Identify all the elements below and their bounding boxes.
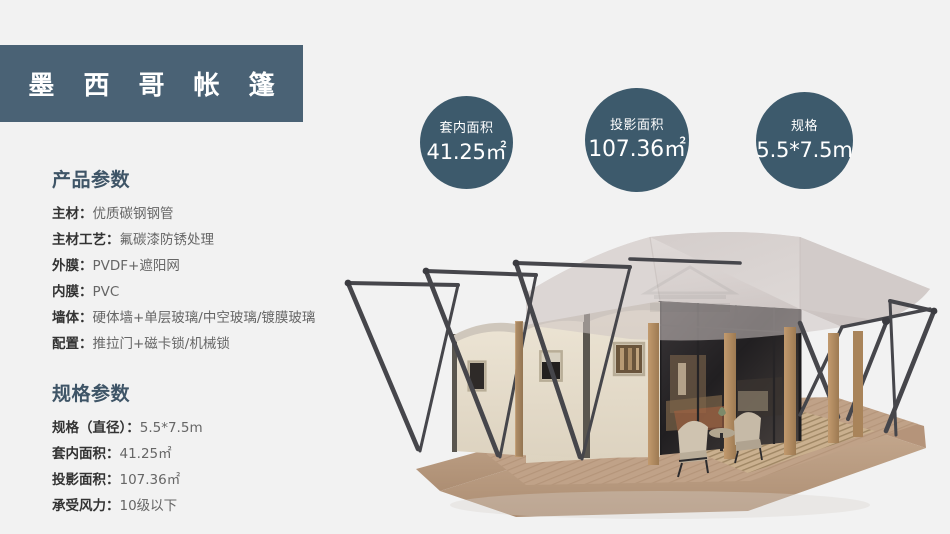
spec-value: 推拉门+磁卡锁/机械锁: [93, 336, 230, 352]
spec-value: 硬体墙+单层玻璃/中空玻璃/镀膜玻璃: [93, 310, 316, 326]
badge-dimensions: 规格 5.5*7.5m: [756, 92, 853, 189]
spec-value: 氟碳漆防锈处理: [120, 232, 215, 248]
tent-illustration: [330, 205, 950, 534]
page-title: 墨 西 哥 帐 篷: [18, 65, 284, 102]
badge-interior-area: 套内面积 41.25㎡: [420, 96, 513, 189]
badge-label: 规格: [791, 120, 818, 133]
spec-label: 主材：: [52, 206, 93, 222]
title-banner: 墨 西 哥 帐 篷: [0, 45, 303, 122]
spec-value: 41.25㎡: [120, 446, 172, 462]
spec-value: PVC: [93, 284, 120, 300]
slide-canvas: 墨 西 哥 帐 篷 产品参数 主材：优质碳钢钢管 主材工艺：氟碳漆防锈处理 外膜…: [0, 0, 950, 534]
spec-value: 10级以下: [120, 498, 178, 514]
badge-projected-area: 投影面积 107.36㎡: [585, 88, 689, 192]
spec-value: 5.5*7.5m: [140, 420, 203, 436]
badge-label: 投影面积: [610, 119, 664, 132]
spec-label: 套内面积：: [52, 446, 120, 462]
badge-value: 41.25㎡: [427, 142, 507, 163]
spec-value: 107.36㎡: [120, 472, 181, 488]
spec-value: 优质碳钢钢管: [93, 206, 174, 222]
spec-label: 内膜：: [52, 284, 93, 300]
spec-label: 配置：: [52, 336, 93, 352]
badge-value: 107.36㎡: [588, 139, 686, 161]
spec-value: PVDF+遮阳网: [93, 258, 180, 274]
spec-label: 承受风力：: [52, 498, 120, 514]
section-heading-product: 产品参数: [52, 165, 382, 192]
spec-label: 墙体：: [52, 310, 93, 326]
spec-label: 规格（直径）：: [52, 420, 140, 436]
spec-label: 投影面积：: [52, 472, 120, 488]
spec-label: 主材工艺：: [52, 232, 120, 248]
badge-label: 套内面积: [439, 122, 493, 135]
badge-value: 5.5*7.5m: [756, 140, 852, 161]
spec-label: 外膜：: [52, 258, 93, 274]
